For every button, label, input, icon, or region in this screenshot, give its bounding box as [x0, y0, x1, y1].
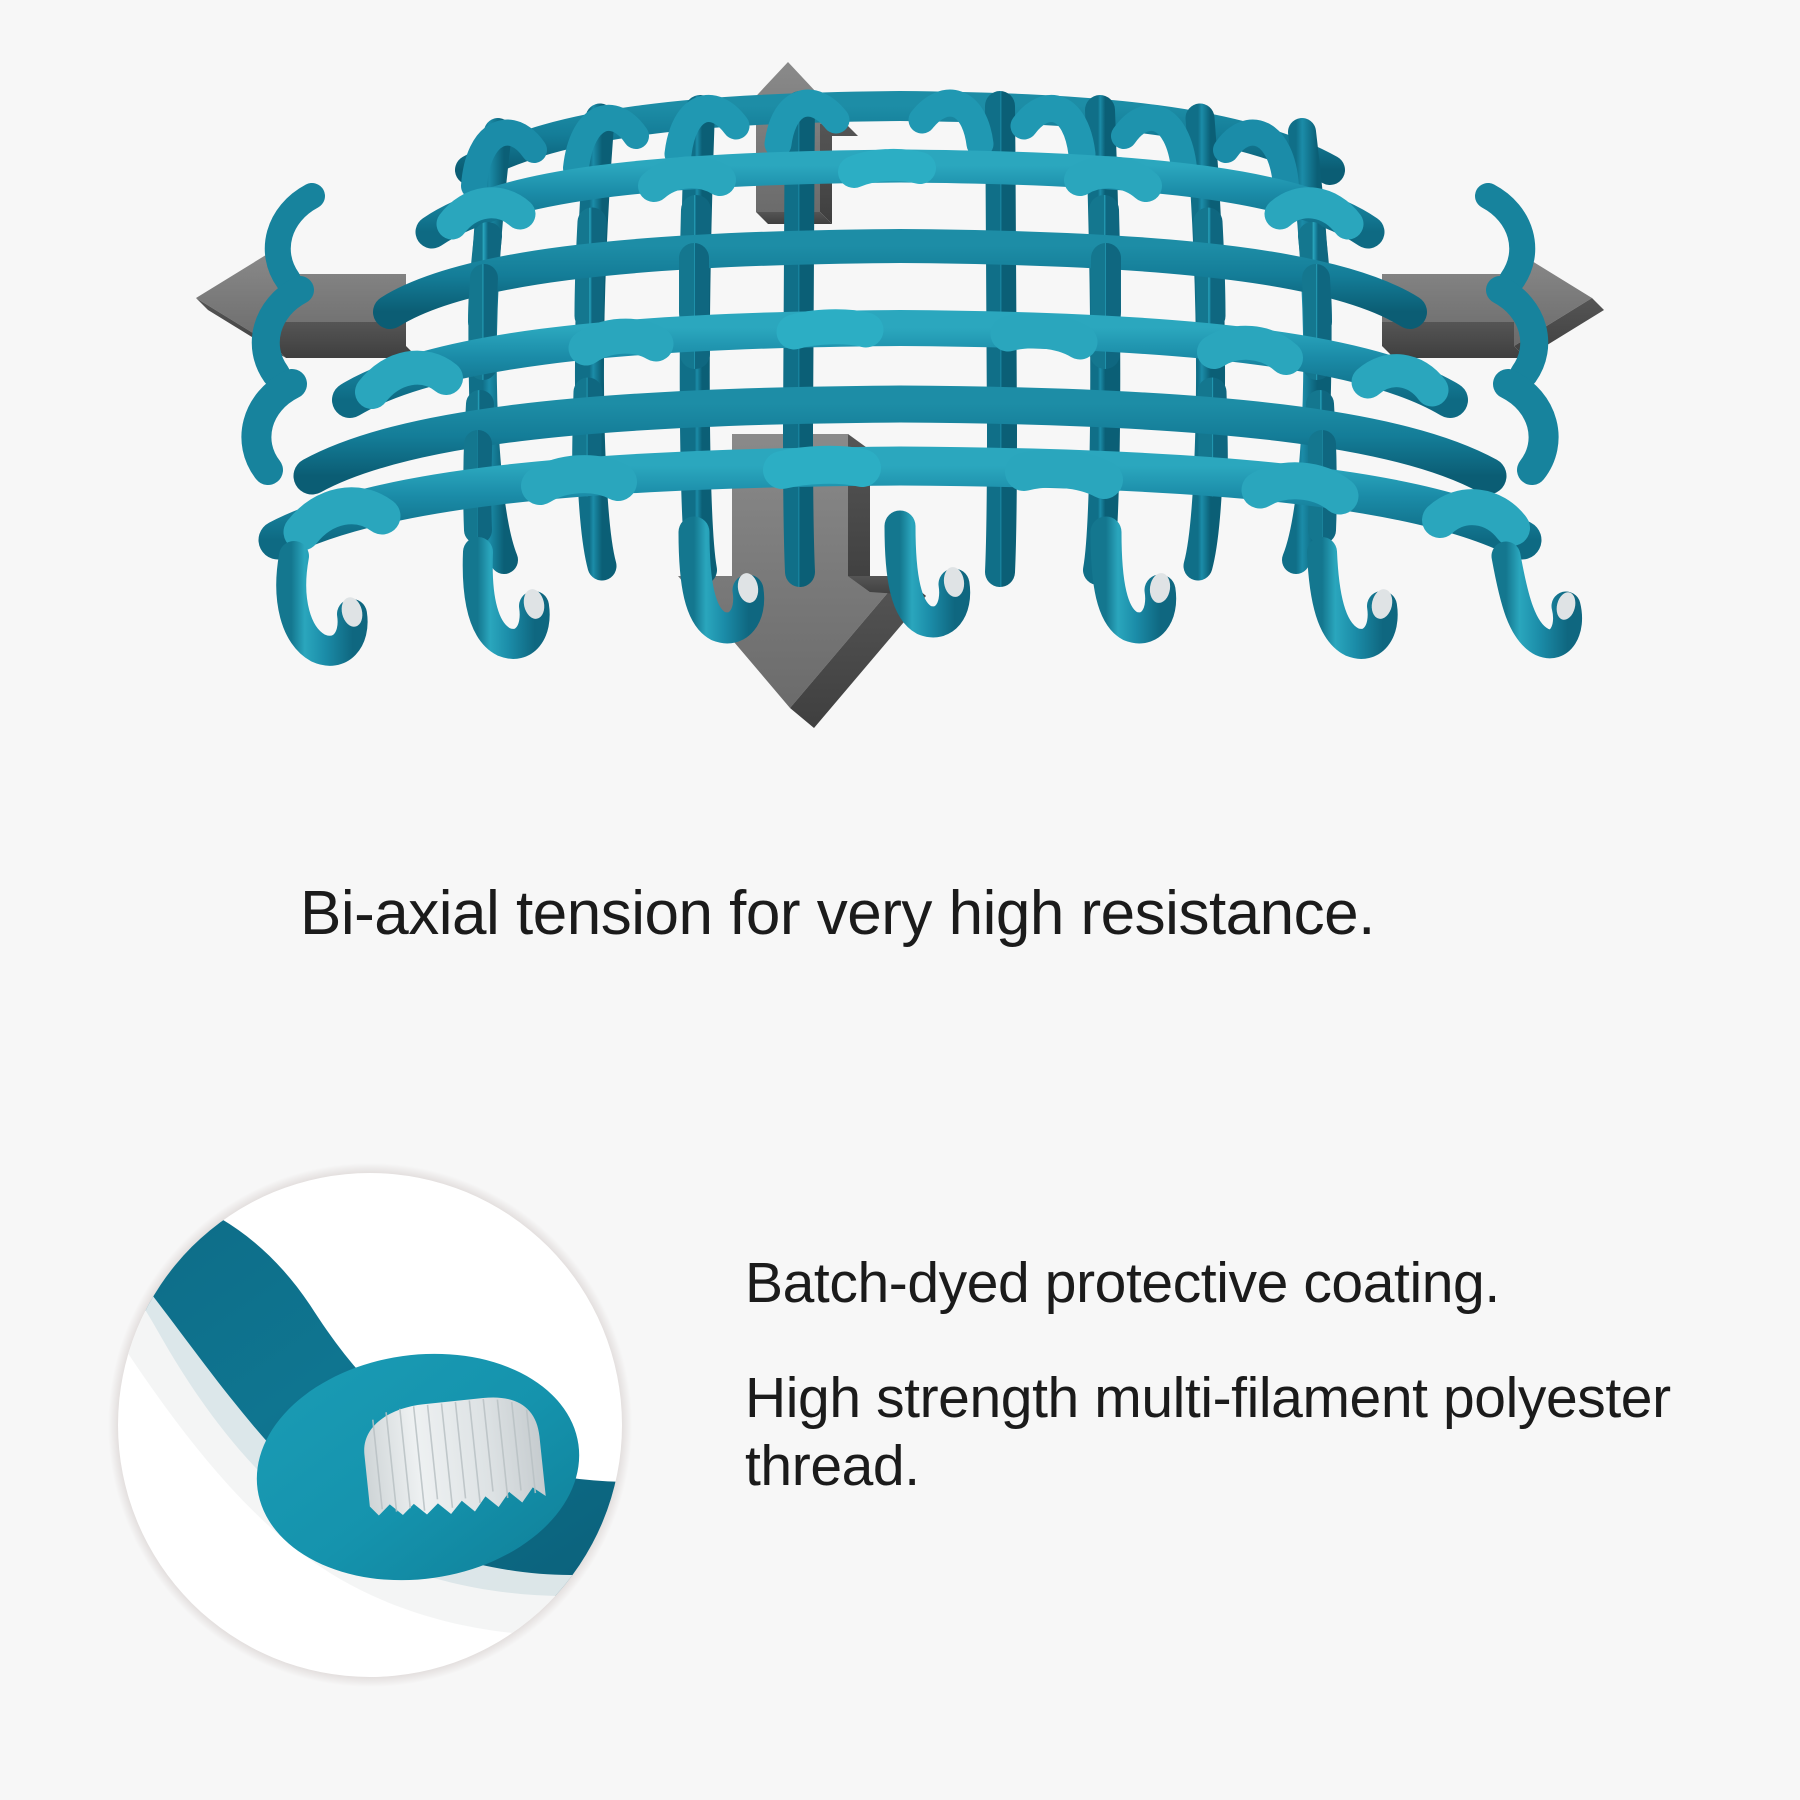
- weave-group: [256, 103, 1578, 651]
- main-caption: Bi-axial tension for very high resistanc…: [300, 878, 1600, 949]
- woven-mesh-illustration: [0, 0, 1800, 840]
- detail-line-thread: High strength multi-filament polyester t…: [745, 1365, 1675, 1500]
- page-root: Bi-axial tension for very high resistanc…: [0, 0, 1800, 1800]
- warp-bottom-ends: [291, 526, 1578, 651]
- detail-line-coating: Batch-dyed protective coating.: [745, 1250, 1745, 1317]
- thread-detail-text: Batch-dyed protective coating. High stre…: [745, 1250, 1745, 1500]
- thread-cross-section-inset: [100, 1155, 640, 1695]
- thread-detail-section: Batch-dyed protective coating. High stre…: [0, 1130, 1800, 1750]
